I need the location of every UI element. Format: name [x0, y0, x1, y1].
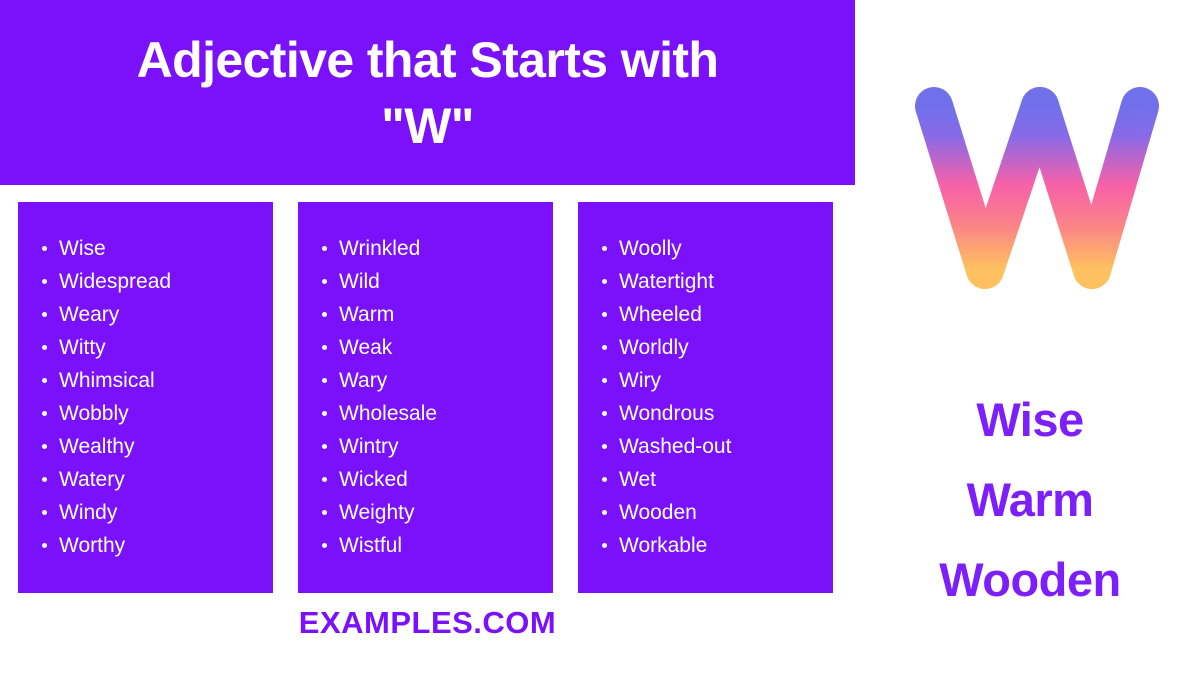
- list-item: Wild: [320, 265, 539, 298]
- word-columns: Wise Widespread Weary Witty Whimsical Wo…: [18, 202, 833, 593]
- list-item: Wise: [40, 232, 259, 265]
- list-item: Wiry: [600, 364, 819, 397]
- word-column-1: Wise Widespread Weary Witty Whimsical Wo…: [18, 202, 273, 593]
- word-column-3: Woolly Watertight Wheeled Worldly Wiry W…: [578, 202, 833, 593]
- list-item: Weighty: [320, 496, 539, 529]
- list-item: Witty: [40, 331, 259, 364]
- list-item: Widespread: [40, 265, 259, 298]
- list-item: Warm: [320, 298, 539, 331]
- word-list-1: Wise Widespread Weary Witty Whimsical Wo…: [40, 232, 259, 562]
- highlight-word: Wise: [860, 380, 1200, 460]
- poster-canvas: Adjective that Starts with "W" Wise Wide…: [0, 0, 1200, 675]
- highlight-word: Warm: [860, 460, 1200, 540]
- list-item: Wobbly: [40, 397, 259, 430]
- list-item: Weak: [320, 331, 539, 364]
- list-item: Wistful: [320, 529, 539, 562]
- word-list-3: Woolly Watertight Wheeled Worldly Wiry W…: [600, 232, 819, 562]
- list-item: Wicked: [320, 463, 539, 496]
- highlight-word: Wooden: [860, 540, 1200, 620]
- list-item: Weary: [40, 298, 259, 331]
- list-item: Wooden: [600, 496, 819, 529]
- header-banner: Adjective that Starts with "W": [0, 0, 855, 185]
- word-list-2: Wrinkled Wild Warm Weak Wary Wholesale W…: [320, 232, 539, 562]
- right-panel: Wise Warm Wooden: [860, 0, 1200, 675]
- list-item: Wrinkled: [320, 232, 539, 265]
- word-column-2: Wrinkled Wild Warm Weak Wary Wholesale W…: [298, 202, 553, 593]
- list-item: Worldly: [600, 331, 819, 364]
- list-item: Windy: [40, 496, 259, 529]
- list-item: Wealthy: [40, 430, 259, 463]
- list-item: Workable: [600, 529, 819, 562]
- list-item: Woolly: [600, 232, 819, 265]
- list-item: Worthy: [40, 529, 259, 562]
- list-item: Watertight: [600, 265, 819, 298]
- list-item: Wary: [320, 364, 539, 397]
- list-item: Wet: [600, 463, 819, 496]
- list-item: Washed-out: [600, 430, 819, 463]
- letter-w-gradient-icon: [900, 78, 1160, 298]
- footer-brand: EXAMPLES.COM: [0, 605, 855, 641]
- list-item: Whimsical: [40, 364, 259, 397]
- list-item: Wintry: [320, 430, 539, 463]
- list-item: Watery: [40, 463, 259, 496]
- page-title: Adjective that Starts with "W": [137, 27, 719, 159]
- list-item: Wholesale: [320, 397, 539, 430]
- list-item: Wondrous: [600, 397, 819, 430]
- list-item: Wheeled: [600, 298, 819, 331]
- highlight-words: Wise Warm Wooden: [860, 380, 1200, 620]
